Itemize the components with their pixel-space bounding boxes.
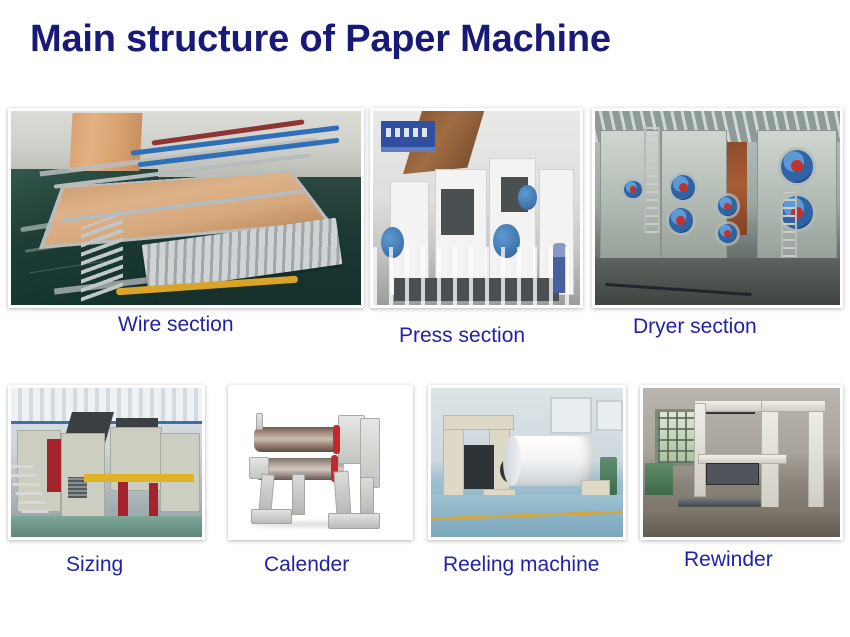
caption-rewinder: Rewinder [684,548,773,572]
wire-section-photo[interactable] [8,108,364,308]
rewinder-artwork [643,388,840,537]
caption-wire-section: Wire section [118,313,234,337]
rewinder-photo[interactable] [640,385,843,540]
reeling-machine-artwork [431,388,623,537]
sizing-photo[interactable] [8,385,205,540]
reeling-machine-photo[interactable] [428,385,626,540]
calender-artwork [231,388,410,537]
dryer-section-photo[interactable] [592,108,843,308]
caption-calender: Calender [264,553,349,577]
calender-photo[interactable] [228,385,413,540]
sizing-artwork [11,388,202,537]
wire-section-artwork [11,111,361,305]
press-section-logo-sign [381,121,435,152]
dryer-section-artwork [595,111,840,305]
caption-press-section: Press section [399,324,525,348]
caption-sizing: Sizing [66,553,123,577]
caption-reeling-machine: Reeling machine [443,553,599,577]
caption-dryer-section: Dryer section [633,315,757,339]
press-section-photo[interactable] [370,108,583,308]
page-title: Main structure of Paper Machine [30,18,611,61]
press-section-artwork [373,111,580,305]
